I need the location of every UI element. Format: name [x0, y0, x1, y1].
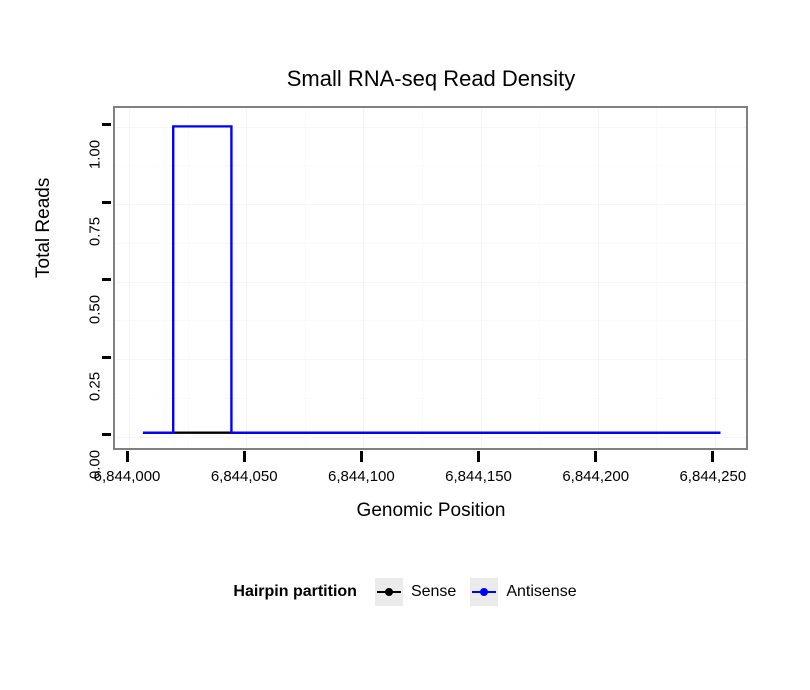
y-axis-title: Total Reads — [33, 178, 55, 278]
legend-key-dot — [385, 588, 393, 596]
legend-key-dot — [480, 588, 488, 596]
legend-label: Antisense — [506, 583, 576, 601]
x-tick-label: 6,844,100 — [296, 468, 426, 485]
x-tick-label: 6,844,050 — [179, 468, 309, 485]
x-tick-mark — [594, 451, 597, 462]
y-tick-label: 0.00 — [87, 434, 104, 494]
data-series-layer — [115, 108, 746, 448]
y-tick-label: 0.50 — [87, 279, 104, 339]
x-tick-mark — [477, 451, 480, 462]
legend-entry-sense[interactable]: Sense — [375, 578, 456, 606]
x-tick-mark — [126, 451, 129, 462]
x-tick-mark — [711, 451, 714, 462]
chart-legend: Hairpin partition SenseAntisense — [0, 578, 810, 606]
x-tick-label: 6,844,250 — [648, 468, 778, 485]
legend-entry-antisense[interactable]: Antisense — [470, 578, 576, 606]
x-axis-title: Genomic Position — [113, 500, 749, 522]
x-tick-label: 6,844,200 — [531, 468, 661, 485]
chart-figure: Small RNA-seq Read Density Total Reads 0… — [0, 0, 810, 690]
legend-label: Sense — [411, 583, 456, 601]
line-point-icon — [375, 578, 403, 606]
plot-panel — [113, 106, 748, 450]
y-tick-label: 1.00 — [87, 124, 104, 184]
chart-title: Small RNA-seq Read Density — [113, 66, 749, 92]
line-point-icon — [470, 578, 498, 606]
series-line-antisense — [143, 126, 720, 432]
x-tick-mark — [243, 451, 246, 462]
y-tick-label: 0.75 — [87, 202, 104, 262]
legend-title: Hairpin partition — [233, 583, 357, 601]
x-tick-label: 6,844,000 — [62, 468, 192, 485]
y-tick-label: 0.25 — [87, 357, 104, 417]
x-tick-mark — [360, 451, 363, 462]
x-tick-label: 6,844,150 — [414, 468, 544, 485]
